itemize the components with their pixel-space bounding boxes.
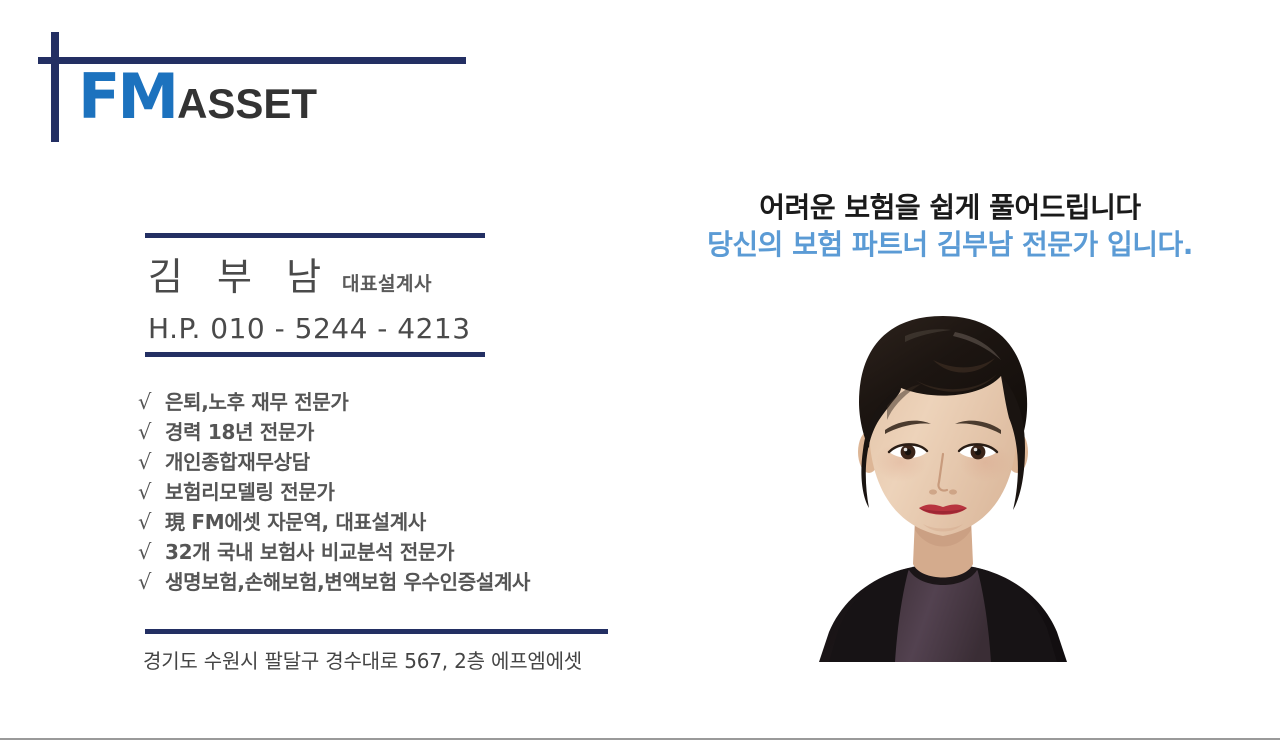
credential-text: 생명보험,손해보험,변액보험 우수인증설계사 <box>165 566 530 595</box>
credential-text: 경력 18년 전문가 <box>165 416 314 445</box>
headline-secondary: 당신의 보험 파트너 김부남 전문가 입니다. <box>660 227 1240 262</box>
phone-number[interactable]: H.P. 010 - 5244 - 4213 <box>148 315 471 343</box>
credential-text: 32개 국내 보험사 비교분석 전문가 <box>165 536 454 565</box>
credentials-list: √ 은퇴,노후 재무 전문가 √ 경력 18년 전문가 √ 개인종합재무상담 √… <box>138 386 658 596</box>
office-address: 경기도 수원시 팔달구 경수대로 567, 2층 에프엠에셋 <box>143 645 582 674</box>
check-icon: √ <box>138 450 165 474</box>
name-block-bottom-divider <box>145 352 485 357</box>
portrait-illustration <box>805 302 1081 662</box>
check-icon: √ <box>138 540 165 564</box>
check-icon: √ <box>138 570 165 594</box>
list-item: √ 은퇴,노후 재무 전문가 <box>138 386 658 416</box>
credential-text: 現 FM에셋 자문역, 대표설계사 <box>165 506 426 535</box>
list-item: √ 32개 국내 보험사 비교분석 전문가 <box>138 536 658 566</box>
headline-block: 어려운 보험을 쉽게 풀어드립니다 당신의 보험 파트너 김부남 전문가 입니다… <box>660 190 1240 262</box>
business-card: FM ASSET 김 부 남 대표설계사 H.P. 010 - 5244 - 4… <box>0 0 1280 740</box>
address-top-divider <box>145 629 608 634</box>
credential-text: 보험리모델링 전문가 <box>165 476 335 505</box>
check-icon: √ <box>138 480 165 504</box>
name-row: 김 부 남 대표설계사 <box>148 258 432 296</box>
check-icon: √ <box>138 510 165 534</box>
list-item: √ 개인종합재무상담 <box>138 446 658 476</box>
credential-text: 개인종합재무상담 <box>165 446 310 475</box>
list-item: √ 現 FM에셋 자문역, 대표설계사 <box>138 506 658 536</box>
list-item: √ 생명보험,손해보험,변액보험 우수인증설계사 <box>138 566 658 596</box>
portrait-photo <box>805 302 1081 662</box>
check-icon: √ <box>138 420 165 444</box>
headline-primary: 어려운 보험을 쉽게 풀어드립니다 <box>660 190 1240 225</box>
credential-text: 은퇴,노후 재무 전문가 <box>165 386 349 415</box>
contact-info-column: 김 부 남 대표설계사 H.P. 010 - 5244 - 4213 √ 은퇴,… <box>0 0 660 740</box>
check-icon: √ <box>138 390 165 414</box>
person-name: 김 부 남 <box>148 258 332 296</box>
name-block-top-divider <box>145 233 485 238</box>
person-title: 대표설계사 <box>342 275 432 294</box>
list-item: √ 경력 18년 전문가 <box>138 416 658 446</box>
list-item: √ 보험리모델링 전문가 <box>138 476 658 506</box>
